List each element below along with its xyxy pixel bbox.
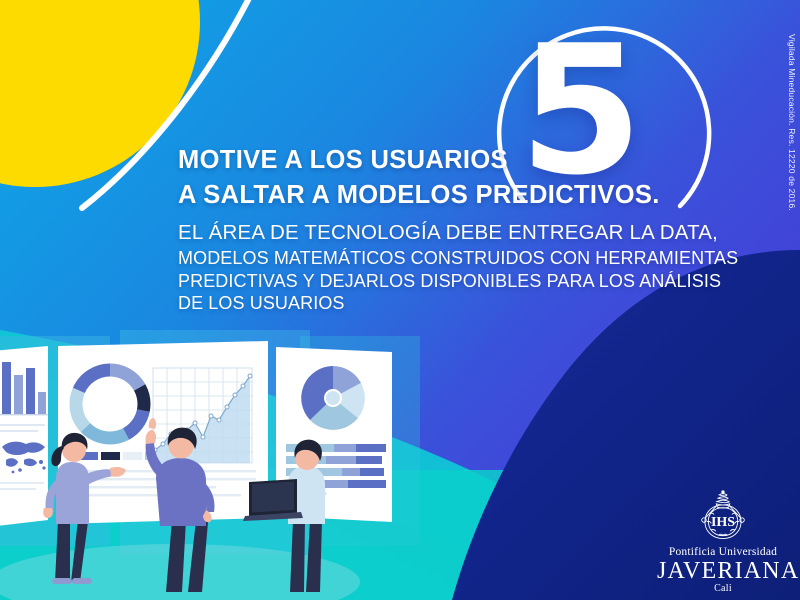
crest-icon: IHS [657,487,789,543]
panel-right-pie-chart [301,366,365,430]
body-line-1: MODELOS MATEMÁTICOS CONSTRUIDOS CON HERR… [178,247,738,270]
accreditation-notice: Vigilada Mineducación. Res. 12220 de 201… [787,34,797,211]
slide-canvas: MOTIVE A LOS USUARIOS A SALTAR A MODELOS… [0,0,800,600]
ihs-crest-icon: IHS [695,487,751,543]
laptop [243,479,303,521]
logo-line-2: JAVERIANA [657,558,789,584]
subheadline: EL ÁREA DE TECNOLOGÍA DEBE ENTREGAR LA D… [178,220,738,246]
body-text: MODELOS MATEMÁTICOS CONSTRUIDOS CON HERR… [178,247,738,315]
headline-block: MOTIVE A LOS USUARIOS A SALTAR A MODELOS… [178,143,738,315]
headline-line-1: MOTIVE A LOS USUARIOS [178,143,738,177]
crest-monogram: IHS [711,515,735,530]
logo-line-1: Pontificia Universidad [657,546,789,558]
panel-center-line-chart [153,368,252,463]
headline-line-2: A SALTAR A MODELOS PREDICTIVOS. [178,178,738,212]
body-line-2: PREDICTIVAS Y DEJARLOS DISPONIBLES PARA … [178,270,738,293]
university-logo: IHS Pontificia Universidad JAVERIANA Cal… [657,487,789,594]
body-line-3: DE LOS USUARIOS [178,292,738,315]
logo-line-3: Cali [657,583,789,594]
panel-left [0,346,48,528]
